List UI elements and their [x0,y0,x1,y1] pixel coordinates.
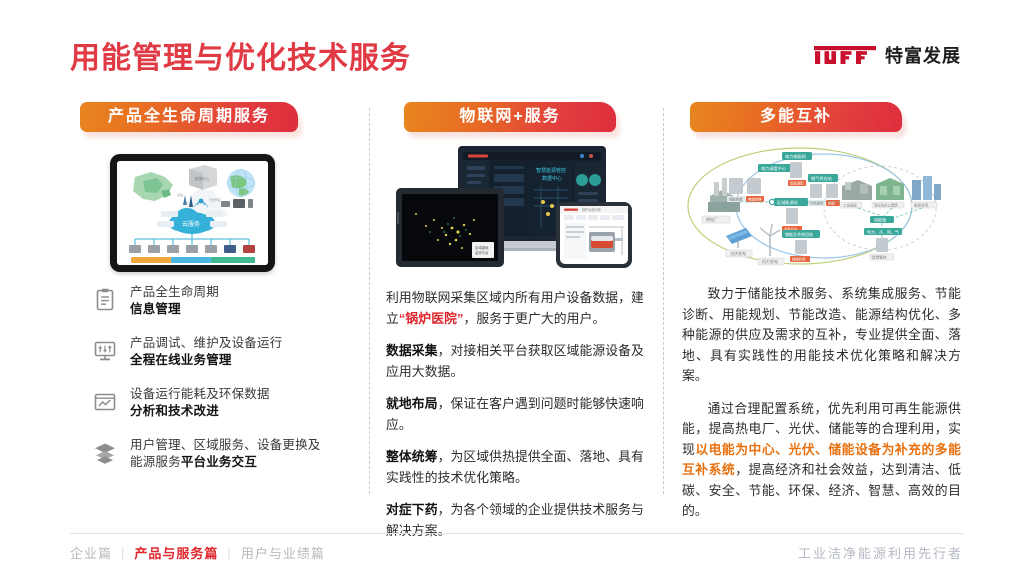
feature-line-2: 分析和技术改进 [130,404,219,418]
slide-root: 用能管理与优化技术服务 特富发展 产品全生命周期服务 [0,0,1033,587]
highlight-boiler-hospital: “锅炉医院” [399,311,464,326]
feature-item: 产品全生命周期 信息管理 [92,284,363,318]
monitor-settings-icon [92,338,118,364]
svg-text:基站: 基站 [177,192,183,197]
content-columns: 产品全生命周期服务 数据中心 [70,102,963,502]
footer-nav-item-customers-performance[interactable]: 用户与业绩篇 [241,543,325,562]
devices-mockup-icon: 智慧能源管控 数据中心 [386,140,647,272]
svg-text:风力发电: 风力发电 [762,258,778,264]
feature-text: 产品调试、维护及设备运行 全程在线业务管理 [130,335,282,369]
section-banner-2: 物联网+服务 [404,102,616,132]
section-banner-3: 多能互补 [690,102,902,132]
svg-text:商业及办公建筑: 商业及办公建筑 [874,203,898,208]
brand-name: 特富发展 [885,42,961,68]
svg-text:智慧管控: 智慧管控 [872,255,887,260]
keyword: 对症下药 [386,502,438,517]
svg-text:智慧能源管控: 智慧能源管控 [536,167,566,174]
feature-text: 产品全生命周期 信息管理 [130,284,219,318]
feature-line-1: 设备运行能耗及环保数据 [130,387,270,401]
column-multi-energy: 多能互补 热电厂 [664,102,963,502]
section-banner-wrap-3: 多能互补 [682,102,963,136]
brand-logo: 特富发展 [814,42,961,68]
paragraph: 对症下药，为各个领域的企业提供技术服务与解决方案。 [386,500,653,541]
svg-text:数据中心: 数据中心 [542,175,562,182]
document-icon [92,287,118,313]
svg-text:梯级利用: 梯级利用 [792,257,806,262]
keyword: 就地布局 [386,396,438,411]
svg-text:用能端: 用能端 [874,216,886,222]
devices-illustration: 智慧能源管控 数据中心 [386,140,647,278]
footer-nav: 企业篇 | 产品与服务篇 | 用户与业绩篇 [70,543,325,562]
svg-text:无线传输: 无线传输 [209,197,221,202]
paragraph: 利用物联网采集区域内所有用户设备数据，建立“锅炉医院”，服务于更广大的用户。 [386,288,653,329]
text-run: 致力于储能技术服务、系统集成服务、节能诊断、用能规划、节能改造、能源结构优化、多… [682,286,961,383]
section-banner-wrap-1: 产品全生命周期服务 [70,102,353,136]
slide-footer: 企业篇 | 产品与服务篇 | 用户与业绩篇 工业洁净能源利用先行者 [70,543,963,565]
svg-text:居民住宅: 居民住宅 [914,203,929,208]
svg-text:区域能耗: 区域能耗 [475,245,489,250]
feature-item: 用户管理、区域服务、设备更换及 能源服务平台业务交互 [92,437,363,471]
feature-line-1: 产品全生命周期 [130,285,219,299]
keyword: 数据采集 [386,343,438,358]
energy-network-illustration: 热电厂 光伏发电 [682,140,963,280]
text-run: ，服务于更广大的用户。 [464,311,606,326]
svg-text:储能装置: 储能装置 [729,197,743,202]
svg-text:监测平台: 监测平台 [475,250,489,255]
cloud-service-diagram-icon: 数据中心 [117,161,268,265]
section-banner-wrap-2: 物联网+服务 [386,102,647,136]
svg-text:冷热联供: 冷热联供 [810,201,824,206]
tablet-device: 数据中心 [110,154,275,272]
feature-text: 用户管理、区域服务、设备更换及 能源服务平台业务交互 [130,437,321,471]
svg-text:电能转换: 电能转换 [748,197,762,202]
chart-image-icon [92,389,118,415]
column-iot-services: 物联网+服务 [370,102,663,502]
feature-line-2: 信息管理 [130,302,181,316]
feature-line-2-prefix: 能源服务 [130,455,181,469]
iot-description: 利用物联网采集区域内所有用户设备数据，建立“锅炉医院”，服务于更广大的用户。 数… [386,288,653,541]
svg-text:工业园区: 工业园区 [843,203,858,208]
section-banner-1: 产品全生命周期服务 [80,102,298,132]
svg-text:储能及余热回收: 储能及余热回收 [785,231,813,237]
svg-text:区域能源站: 区域能源站 [777,199,798,206]
feature-list: 产品全生命周期 信息管理 [92,284,363,488]
tablet-illustration: 数据中心 [70,140,353,280]
paragraph: 数据采集，对接相关平台获取区域能源设备及应用大数据。 [386,341,653,382]
feature-line-2: 平台业务交互 [181,455,257,469]
feature-text: 设备运行能耗及环保数据 分析和技术改进 [130,386,270,420]
footer-tagline: 工业洁净能源利用先行者 [798,543,963,562]
tuff-logo-icon [814,46,876,64]
svg-text:电力、冷、热、气: 电力、冷、热、气 [867,228,899,234]
svg-text:供能: 供能 [828,201,835,206]
footer-divider [70,533,963,534]
svg-text:锅炉远程诊断: 锅炉远程诊断 [582,207,602,212]
svg-text:电力输配网: 电力输配网 [785,153,806,160]
svg-text:光伏发电: 光伏发电 [730,250,746,256]
feature-item: 产品调试、维护及设备运行 全程在线业务管理 [92,335,363,369]
layers-icon [92,440,118,466]
svg-text:云服务: 云服务 [182,220,200,228]
feature-item: 设备运行能耗及环保数据 分析和技术改进 [92,386,363,420]
footer-nav-separator: | [227,545,231,560]
multi-energy-description: 致力于储能技术服务、系统集成服务、节能诊断、用能规划、节能改造、能源结构优化、多… [682,284,961,522]
paragraph: 致力于储能技术服务、系统集成服务、节能诊断、用能规划、节能改造、能源结构优化、多… [682,284,961,387]
keyword: 整体统筹 [386,449,438,464]
tablet-screen: 数据中心 [117,161,268,265]
footer-nav-item-enterprise[interactable]: 企业篇 [70,543,112,562]
svg-text:智能调配: 智能调配 [790,181,804,186]
svg-text:电力调度中心: 电力调度中心 [761,165,787,172]
paragraph: 通过合理配置系统，优先利用可再生能源供能，提高热电厂、光伏、储能等的合理利用，实… [682,399,961,522]
paragraph: 就地布局，保证在客户遇到问题时能够快速响应。 [386,394,653,435]
feature-line-2: 全程在线业务管理 [130,353,232,367]
multi-energy-network-icon: 热电厂 光伏发电 [682,140,944,272]
column-product-lifecycle: 产品全生命周期服务 数据中心 [70,102,369,502]
feature-line-1: 产品调试、维护及设备运行 [130,336,282,350]
paragraph: 整体统筹，为区域供热提供全面、落地、具有实践性的技术优化策略。 [386,447,653,488]
feature-line-1: 用户管理、区域服务、设备更换及 [130,438,321,452]
svg-text:热电厂: 热电厂 [706,216,718,222]
footer-nav-item-products-services[interactable]: 产品与服务篇 [134,543,218,562]
footer-nav-separator: | [121,545,125,560]
svg-text:数据中心: 数据中心 [195,176,210,181]
svg-text:燃气供应站: 燃气供应站 [811,175,832,182]
slide-header: 用能管理与优化技术服务 特富发展 [0,36,1033,82]
page-title: 用能管理与优化技术服务 [70,36,411,82]
